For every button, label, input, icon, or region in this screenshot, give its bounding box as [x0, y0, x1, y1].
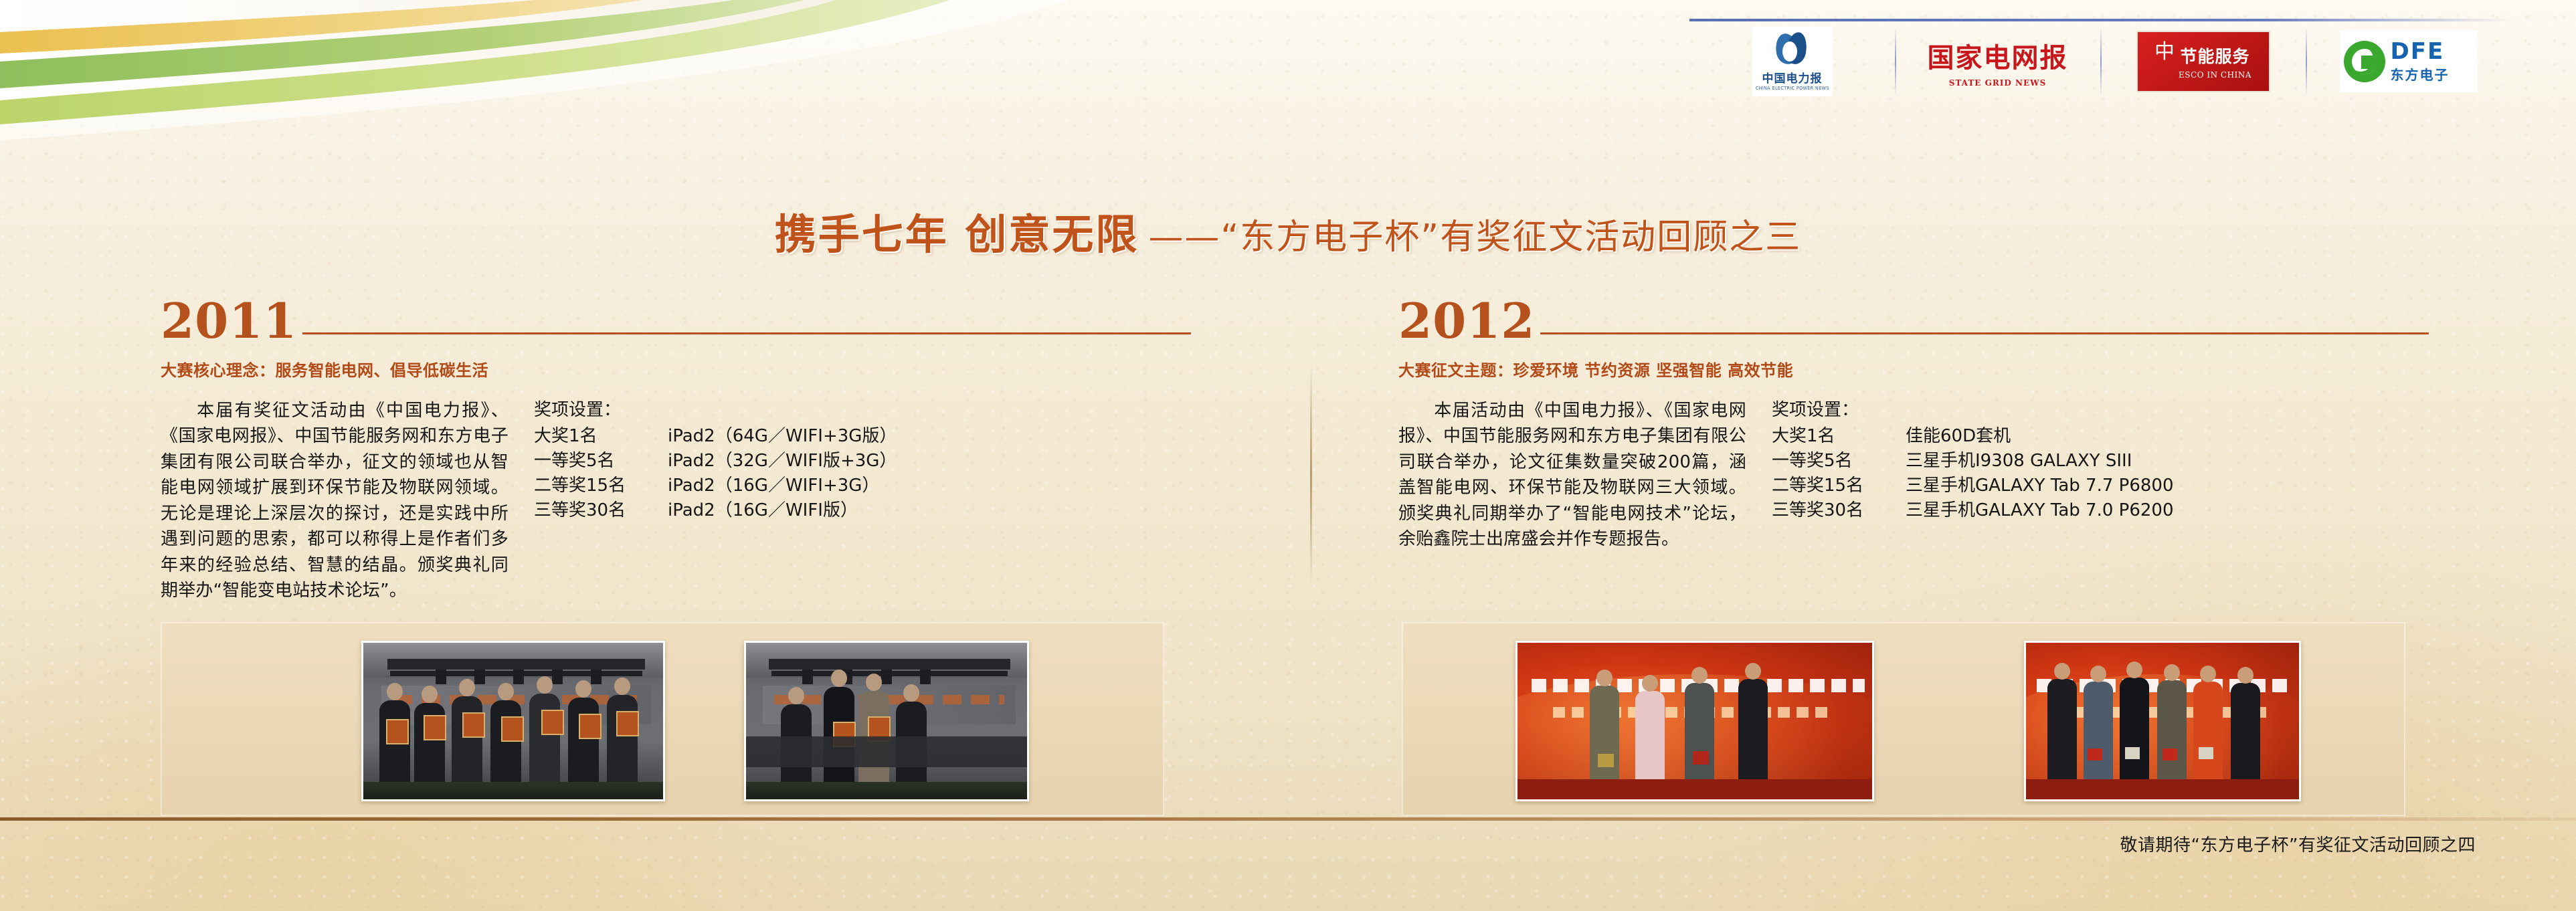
poster-page: 中国电力报 CHINA ELECTRIC POWER NEWS 国家电网报 ST… — [0, 0, 2576, 911]
prize-gift: 三星手机GALAXY Tab 7.0 P6200 — [1906, 498, 2174, 523]
prize-row: 一等奖5名 iPad2（32G／WIFI版+3G） — [534, 449, 897, 474]
logo-esco-in-china[interactable]: 中 节能服务 ESCO IN CHINA — [2100, 25, 2306, 98]
esco-en-label: ESCO IN CHINA — [2179, 70, 2251, 80]
prize-gift: iPad2（64G／WIFI+3G版） — [668, 424, 897, 449]
year-heading-row-2011: 2011 — [161, 294, 1191, 344]
prize-rank: 一等奖5名 — [1772, 449, 1906, 474]
prize-rank: 大奖1名 — [534, 424, 668, 449]
section-subtitle-2012: 大赛征文主题：珍爱环境 节约资源 坚强智能 高效节能 — [1398, 357, 2429, 381]
year-label-2011: 2011 — [161, 298, 297, 344]
photo-panel-2012 — [1402, 622, 2405, 816]
prize-list-2011: 奖项设置： 大奖1名 iPad2（64G／WIFI+3G版） 一等奖5名 iPa… — [534, 398, 897, 604]
esco-logo-box: 中 节能服务 ESCO IN CHINA — [2136, 31, 2270, 92]
prize-row: 三等奖30名 iPad2（16G／WIFI版） — [534, 498, 897, 523]
page-title-sub: ——“东方电子杯”有奖征文活动回顾之三 — [1148, 217, 1801, 258]
logo-state-grid-news[interactable]: 国家电网报 STATE GRID NEWS — [1895, 25, 2100, 98]
prize-row: 大奖1名 iPad2（64G／WIFI+3G版） — [534, 424, 897, 449]
prize-row: 二等奖15名 三星手机GALAXY Tab 7.7 P6800 — [1772, 474, 2174, 498]
prize-rank: 二等奖15名 — [534, 474, 668, 498]
dfe-circle-icon — [2344, 41, 2385, 82]
esco-cn-label: 节能服务 — [2180, 43, 2249, 68]
year-rule-2012 — [1540, 332, 2429, 334]
prize-rank: 三等奖30名 — [534, 498, 668, 523]
prize-gift: 三星手机GALAXY Tab 7.7 P6800 — [1906, 474, 2174, 498]
prize-rank: 一等奖5名 — [534, 449, 668, 474]
prize-gift: 三星手机I9308 GALAXY SIII — [1906, 449, 2132, 474]
section-paragraph-2012: 本届活动由《中国电力报》、《国家电网报》、中国节能服务网和东方电子集团有限公司联… — [1398, 398, 1746, 552]
prize-row: 二等奖15名 iPad2（16G／WIFI+3G） — [534, 474, 897, 498]
logo-bar-rule — [1689, 19, 2512, 21]
prize-row: 三等奖30名 三星手机GALAXY Tab 7.0 P6200 — [1772, 498, 2174, 523]
dfe-logo-box: DFE 东方电子 — [2340, 31, 2478, 92]
dfe-en-label: DFE — [2391, 40, 2450, 63]
prize-gift: iPad2（32G／WIFI版+3G） — [668, 449, 897, 474]
prize-row: 一等奖5名 三星手机I9308 GALAXY SIII — [1772, 449, 2174, 474]
sgn-cn-label: 国家电网报 — [1928, 36, 2068, 75]
prize-row: 大奖1名 佳能60D套机 — [1772, 424, 2174, 449]
prize-heading-2012: 奖项设置： — [1772, 398, 2174, 423]
column-divider — [1310, 365, 1312, 585]
cepn-cn-label: 中国电力报 — [1762, 69, 1823, 86]
partner-logo-bar: 中国电力报 CHINA ELECTRIC POWER NEWS 国家电网报 ST… — [1689, 5, 2549, 99]
photo-2011-award-stage[interactable] — [744, 641, 1029, 801]
prize-gift: 佳能60D套机 — [1906, 424, 2011, 449]
year-rule-2011 — [302, 332, 1191, 334]
page-title: 携手七年 创意无限——“东方电子杯”有奖征文活动回顾之三 — [0, 201, 2576, 261]
year-heading-row-2012: 2012 — [1398, 294, 2429, 344]
esco-zhong-glyph: 中 — [2154, 43, 2175, 80]
footer-note: 敬请期待“东方电子杯”有奖征文活动回顾之四 — [2120, 831, 2476, 856]
prize-rank: 二等奖15名 — [1772, 474, 1906, 498]
sgn-logo-box: 国家电网报 STATE GRID NEWS — [1928, 36, 2068, 88]
section-2012: 2012 大赛征文主题：珍爱环境 节约资源 坚强智能 高效节能 本届活动由《中国… — [1398, 294, 2429, 552]
footer-rule — [0, 817, 2576, 821]
cepn-mark-icon — [1772, 32, 1813, 67]
logo-dfe[interactable]: DFE 东方电子 — [2306, 25, 2511, 98]
dfe-cn-label: 东方电子 — [2391, 64, 2450, 84]
photo-2012-award-winners[interactable] — [2024, 641, 2301, 801]
paragraph-text-2011: 本届有奖征文活动由《中国电力报》、《国家电网报》、中国节能服务网和东方电子集团有… — [161, 401, 509, 601]
photo-2012-award-group[interactable] — [1515, 641, 1874, 801]
prize-rank: 三等奖30名 — [1772, 498, 1906, 523]
prize-list-2012: 奖项设置： 大奖1名 佳能60D套机 一等奖5名 三星手机I9308 GALAX… — [1772, 398, 2174, 552]
photo-2011-award-group[interactable] — [361, 641, 665, 801]
section-2011: 2011 大赛核心理念：服务智能电网、倡导低碳生活 本届有奖征文活动由《中国电力… — [161, 294, 1191, 604]
paragraph-text-2012: 本届活动由《中国电力报》、《国家电网报》、中国节能服务网和东方电子集团有限公司联… — [1398, 401, 1746, 549]
photo-panel-2011 — [161, 622, 1164, 816]
page-title-main: 携手七年 创意无限 — [775, 210, 1139, 259]
cepn-en-label: CHINA ELECTRIC POWER NEWS — [1755, 86, 1829, 91]
section-subtitle-2011: 大赛核心理念：服务智能电网、倡导低碳生活 — [161, 357, 1191, 381]
prize-rank: 大奖1名 — [1772, 424, 1906, 449]
cepn-logo-box: 中国电力报 CHINA ELECTRIC POWER NEWS — [1752, 27, 1833, 96]
header-swoosh-decoration — [0, 0, 1740, 140]
section-paragraph-2011: 本届有奖征文活动由《中国电力报》、《国家电网报》、中国节能服务网和东方电子集团有… — [161, 398, 509, 604]
sgn-en-label: STATE GRID NEWS — [1949, 78, 2047, 88]
logo-china-electric-power-news[interactable]: 中国电力报 CHINA ELECTRIC POWER NEWS — [1689, 25, 1895, 98]
prize-heading-2011: 奖项设置： — [534, 398, 897, 423]
prize-gift: iPad2（16G／WIFI版） — [668, 498, 858, 523]
year-label-2012: 2012 — [1398, 298, 1535, 344]
prize-gift: iPad2（16G／WIFI+3G） — [668, 474, 879, 498]
